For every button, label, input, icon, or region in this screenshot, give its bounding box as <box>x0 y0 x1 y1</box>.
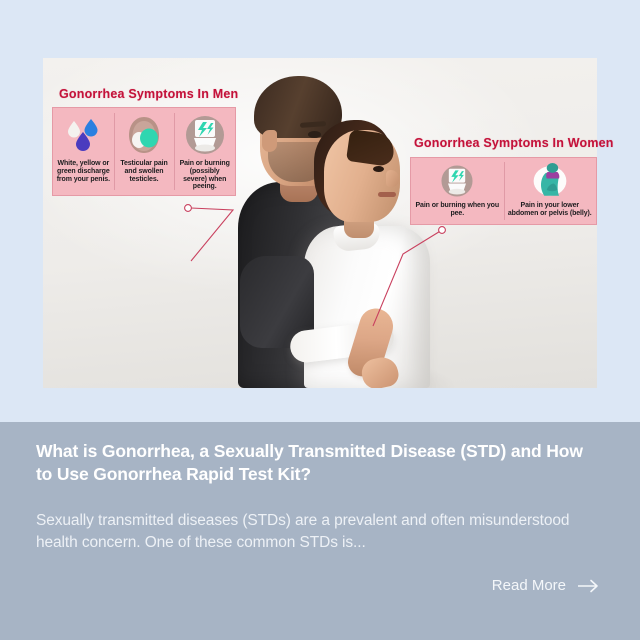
article-excerpt: Sexually transmitted diseases (STDs) are… <box>36 510 588 554</box>
arrow-right-icon <box>578 579 600 593</box>
toilet-pain-icon <box>437 163 477 199</box>
men-symptom-caption: Testicular pain and swollen testicles. <box>117 160 172 183</box>
toilet-pain-icon <box>182 113 228 157</box>
men-symptoms-box: White, yellow or green discharge from yo… <box>52 107 236 196</box>
discharge-drops-icon <box>60 113 106 157</box>
men-symptom-caption: White, yellow or green discharge from yo… <box>56 160 111 183</box>
abdomen-pain-woman-icon <box>530 163 570 199</box>
women-symptoms-box: Pain or burning when you pee. Pain in yo… <box>410 157 597 225</box>
women-symptom-caption: Pain or burning when you pee. <box>414 202 501 218</box>
women-symptom-caption: Pain in your lower abdomen or pelvis (be… <box>507 202 594 218</box>
men-symptoms-heading: Gonorrhea Symptoms In Men <box>59 87 238 101</box>
women-symptoms-heading: Gonorrhea Symptoms In Women <box>414 136 614 150</box>
article-title[interactable]: What is Gonorrhea, a Sexually Transmitte… <box>36 440 584 486</box>
men-symptom-caption: Pain or burning (possibly severe) when p… <box>177 160 232 191</box>
women-symptom-cell-urination: Pain or burning when you pee. <box>411 158 504 224</box>
women-symptom-cell-abdomen: Pain in your lower abdomen or pelvis (be… <box>504 158 597 224</box>
read-more-label: Read More <box>492 577 566 594</box>
men-symptom-cell-urination: Pain or burning (possibly severe) when p… <box>174 108 235 195</box>
testicles-icon <box>121 113 167 157</box>
men-symptom-cell-discharge: White, yellow or green discharge from yo… <box>53 108 114 195</box>
read-more-link[interactable]: Read More <box>492 577 600 594</box>
article-info-panel: What is Gonorrhea, a Sexually Transmitte… <box>0 422 640 640</box>
men-symptom-cell-testicles: Testicular pain and swollen testicles. <box>114 108 175 195</box>
